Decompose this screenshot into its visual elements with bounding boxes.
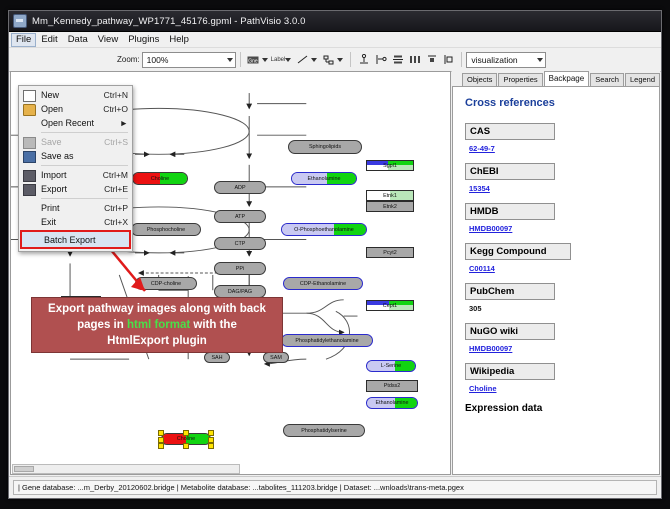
pathvisio-window: Mm_Kennedy_pathway_WP1771_45176.gpml - P… <box>8 10 662 499</box>
pathvisio-icon <box>13 14 27 28</box>
line-tool-button[interactable] <box>295 52 310 67</box>
file-menu-import[interactable]: Import Ctrl+M <box>19 168 132 182</box>
gene-cept1[interactable]: Cept1 <box>366 300 414 311</box>
xref-label-kegg-compound: Kegg Compound <box>465 243 571 260</box>
node-ethanolamine-top[interactable]: Ethanolamine <box>291 172 357 185</box>
annotation-line2-post: with the <box>190 319 237 331</box>
xref-label-hmdb: HMDB <box>465 203 555 220</box>
tab-legend[interactable]: Legend <box>625 73 660 86</box>
node-atp[interactable]: ATP <box>214 210 266 223</box>
open-folder-icon <box>23 104 36 116</box>
menu-bar: File Edit Data View Plugins Help <box>9 32 661 48</box>
status-bar-text: | Gene database: ...m_Derby_20120602.bri… <box>13 480 657 495</box>
line-chevron-icon[interactable] <box>311 58 317 62</box>
xref-label-chebi: ChEBI <box>465 163 555 180</box>
xref-value-wikipedia[interactable]: Choline <box>469 384 649 393</box>
node-adp[interactable]: ADP <box>214 181 266 194</box>
selection-handle[interactable] <box>208 443 214 449</box>
toolbar-divider-3 <box>461 52 462 67</box>
gene-shape-button[interactable]: Gne <box>246 52 261 67</box>
cross-references-heading: Cross references <box>465 97 649 109</box>
node-ethanolamine-bottom[interactable]: Ethanolamine <box>366 397 418 409</box>
align-top-icon[interactable] <box>356 52 371 67</box>
annotation-line1: Export pathway images along with back <box>48 303 266 315</box>
file-menu-separator <box>41 132 128 133</box>
file-menu-export[interactable]: Export Ctrl+E <box>19 182 132 196</box>
align-right-icon[interactable] <box>441 52 456 67</box>
xref-value-chebi[interactable]: 15354 <box>469 184 649 193</box>
menu-edit[interactable]: Edit <box>36 33 62 47</box>
selection-handle[interactable] <box>158 430 164 436</box>
file-menu-popup[interactable]: New Ctrl+N Open Ctrl+O Open Recent ► Sav… <box>18 85 133 252</box>
gene-etnk1[interactable]: Etnk1 <box>366 190 414 201</box>
node-phosphatidylserine[interactable]: Phosphatidylserine <box>283 424 365 437</box>
connector-tool-button[interactable] <box>321 52 336 67</box>
annotation-callout: Export pathway images along with back pa… <box>31 297 283 353</box>
file-menu-separator-2 <box>41 165 128 166</box>
visualization-chevron-down-icon <box>537 58 543 62</box>
screenshot-frame: Mm_Kennedy_pathway_WP1771_45176.gpml - P… <box>0 0 670 509</box>
selection-handle[interactable] <box>158 443 164 449</box>
tab-objects[interactable]: Objects <box>462 73 497 86</box>
title-bar: Mm_Kennedy_pathway_WP1771_45176.gpml - P… <box>9 11 661 32</box>
zoom-combobox[interactable]: 100% <box>142 52 236 68</box>
connector-chevron-icon[interactable] <box>337 58 343 62</box>
toolbar-divider <box>240 52 241 67</box>
status-bar: | Gene database: ...m_Derby_20120602.bri… <box>9 476 661 498</box>
scrollbar-thumb[interactable] <box>14 466 34 472</box>
xref-value-hmdb[interactable]: HMDB00097 <box>469 224 649 233</box>
file-menu-save-as[interactable]: Save as <box>19 149 132 163</box>
save-icon <box>23 137 36 149</box>
selection-handle[interactable] <box>183 430 189 436</box>
tab-properties[interactable]: Properties <box>498 73 542 86</box>
backpage-content: Cross references CAS 62-49-7 ChEBI 15354… <box>452 86 660 475</box>
xref-value-nugo-wiki[interactable]: HMDB00097 <box>469 344 649 353</box>
node-o-phosphoethanolamine[interactable]: O-Phosphoethanolamine <box>281 223 367 236</box>
menu-view[interactable]: View <box>93 33 123 47</box>
tab-backpage[interactable]: Backpage <box>544 71 590 86</box>
file-menu-open-recent[interactable]: Open Recent ► <box>19 116 132 130</box>
menu-file[interactable]: File <box>11 33 36 47</box>
node-choline-top[interactable]: Choline <box>132 172 188 185</box>
annotation-highlight: html format <box>127 319 190 331</box>
menu-help[interactable]: Help <box>164 33 194 47</box>
file-menu-save: Save Ctrl+S <box>19 135 132 149</box>
tab-search[interactable]: Search <box>590 73 624 86</box>
gene-etnk2[interactable]: Etnk2 <box>366 201 414 212</box>
file-menu-print[interactable]: Print Ctrl+P <box>19 201 132 215</box>
label-chevron-icon[interactable] <box>285 58 291 62</box>
align-left-icon[interactable] <box>373 52 388 67</box>
chevron-down-icon <box>227 58 233 62</box>
save-as-icon <box>23 151 36 163</box>
node-sah[interactable]: SAH <box>204 352 230 363</box>
node-cdp-ethanolamine[interactable]: CDP-Ethanolamine <box>283 277 363 290</box>
xref-label-wikipedia: Wikipedia <box>465 363 555 380</box>
gene-sgpl1[interactable]: Sgpl1 <box>366 160 414 171</box>
gene-shape-chevron-icon[interactable] <box>262 58 268 62</box>
annotation-line2-pre: pages in <box>77 319 127 331</box>
submenu-chevron-right-icon: ► <box>120 118 132 128</box>
label-button[interactable]: Label <box>271 57 286 63</box>
expression-data-heading: Expression data <box>465 403 649 414</box>
visualization-combobox[interactable]: visualization <box>466 52 546 68</box>
side-panel-tabs: Objects Properties Backpage Search Legen… <box>452 71 660 86</box>
distribute-icon[interactable] <box>407 52 422 67</box>
node-l-serine[interactable]: L-Serine <box>366 360 416 372</box>
menu-plugins[interactable]: Plugins <box>123 33 164 47</box>
window-title: Mm_Kennedy_pathway_WP1771_45176.gpml - P… <box>32 16 306 27</box>
svg-text:Gne: Gne <box>248 58 258 64</box>
node-ptdss2[interactable]: Ptdss2 <box>366 380 418 392</box>
align-stack-icon[interactable] <box>390 52 405 67</box>
side-panel: Objects Properties Backpage Search Legen… <box>452 71 660 475</box>
toolbar: Zoom: 100% Gne Label <box>9 48 661 72</box>
xref-value-pubchem: 305 <box>469 304 649 313</box>
export-icon <box>23 184 36 196</box>
file-menu-batch-export[interactable]: Batch Export <box>20 230 131 249</box>
gene-pcyt2[interactable]: Pcyt2 <box>366 247 414 258</box>
xref-label-pubchem: PubChem <box>465 283 555 300</box>
file-menu-exit[interactable]: Exit Ctrl+X <box>19 215 132 229</box>
visualization-value: visualization <box>471 55 517 65</box>
file-menu-separator-3 <box>41 198 128 199</box>
import-icon <box>23 170 36 182</box>
annotation-line3: HtmlExport plugin <box>107 335 207 347</box>
node-sam[interactable]: SAM <box>263 352 289 363</box>
new-file-icon <box>23 90 36 102</box>
selection-handle[interactable] <box>183 443 189 449</box>
node-ppi[interactable]: PPi <box>214 262 266 275</box>
selection-handle[interactable] <box>208 430 214 436</box>
xref-label-nugo-wiki: NuGO wiki <box>465 323 555 340</box>
file-menu-new[interactable]: New Ctrl+N <box>19 88 132 102</box>
xref-label-cas: CAS <box>465 123 555 140</box>
zoom-label: Zoom: <box>117 55 140 64</box>
zoom-value: 100% <box>147 55 169 65</box>
node-phosphatidylethanolamine[interactable]: Phosphatidylethanolamine <box>281 334 373 347</box>
file-menu-open[interactable]: Open Ctrl+O <box>19 102 132 116</box>
node-sphingolipids[interactable]: Sphingolipids <box>288 140 362 154</box>
node-ctp[interactable]: CTP <box>214 237 266 250</box>
menu-data[interactable]: Data <box>63 33 93 47</box>
xref-value-kegg-compound[interactable]: C00114 <box>469 264 649 273</box>
toolbar-divider-2 <box>350 52 351 67</box>
xref-value-cas[interactable]: 62-49-7 <box>469 144 649 153</box>
align-bottom-icon[interactable] <box>424 52 439 67</box>
canvas-horizontal-scrollbar[interactable] <box>12 464 240 474</box>
